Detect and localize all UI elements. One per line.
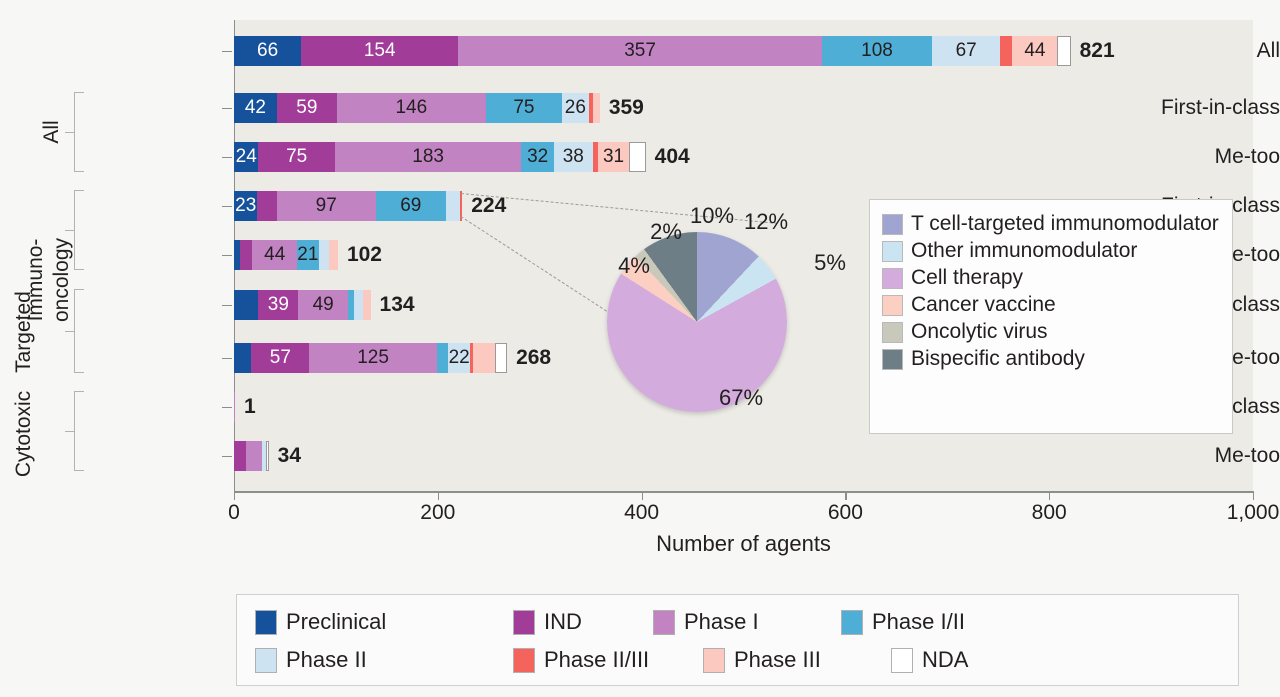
phase-legend: PreclinicalINDPhase IPhase I/II Phase II… <box>236 594 1239 686</box>
phase-legend-item: NDA <box>891 647 968 673</box>
bar-segment-preclinical <box>234 290 258 320</box>
x-tick-label: 400 <box>624 501 659 525</box>
row-label: All <box>1065 36 1280 66</box>
pie-legend-label: Oncolytic virus <box>911 319 1048 345</box>
pie-legend-swatch <box>882 268 903 289</box>
bar-segment-phase-i: 125 <box>309 343 436 373</box>
bar-row: 5712522 <box>234 343 507 373</box>
bar-row <box>234 441 269 471</box>
phase-legend-row-1: PreclinicalINDPhase IPhase I/II <box>255 603 1238 641</box>
bar-segment-ind: 75 <box>258 142 334 172</box>
phase-legend-row-2: Phase IIPhase II/IIIPhase IIINDA <box>255 641 1238 679</box>
bar-total-label: 268 <box>516 343 551 373</box>
row-tick <box>222 108 232 109</box>
pie-percent-label: 67% <box>719 385 763 411</box>
phase-legend-item: Phase I/II <box>841 609 965 635</box>
bar-total-label: 34 <box>278 441 301 471</box>
row-tick <box>222 407 232 408</box>
phase-legend-label: IND <box>544 609 582 635</box>
bar-segment-phase-i-ii: 32 <box>521 142 554 172</box>
group-bracket <box>74 391 75 471</box>
group-label-targeted: Targeted <box>12 291 36 373</box>
pie-legend-label: Bispecific antibody <box>911 346 1085 372</box>
x-tick <box>642 491 643 500</box>
pie-legend-item: Bispecific antibody <box>882 346 1222 372</box>
x-tick <box>438 491 439 500</box>
bar-segment-phase-ii: 67 <box>932 36 1000 66</box>
x-tick <box>1049 491 1050 500</box>
phase-legend-swatch <box>513 648 535 673</box>
bar-segment-preclinical: 42 <box>234 93 277 123</box>
bar-segment-phase-ii: 38 <box>554 142 593 172</box>
pie-legend-item: T cell-targeted immunomodulator <box>882 211 1222 237</box>
pie-legend-label: Other immunomodulator <box>911 238 1137 264</box>
row-label: First-in-class <box>1065 93 1280 123</box>
phase-legend-label: Phase II/III <box>544 647 649 673</box>
bar-total-label: 404 <box>655 142 690 172</box>
bar-segment-phase-i <box>246 441 261 471</box>
bar-segment-phase-i: 146 <box>337 93 486 123</box>
x-tick-label: 600 <box>828 501 863 525</box>
bar-segment-ind <box>240 240 252 270</box>
pie-legend-item: Oncolytic virus <box>882 319 1222 345</box>
phase-legend-item: Phase III <box>703 647 891 673</box>
bar-segment-phase-ii <box>446 191 460 221</box>
bar-row: 4421 <box>234 240 338 270</box>
bar-row <box>234 392 235 422</box>
pie-legend-swatch <box>882 322 903 343</box>
bar-total-label: 102 <box>347 240 382 270</box>
phase-legend-label: Phase I/II <box>872 609 965 635</box>
phase-legend-label: Phase I <box>684 609 759 635</box>
pie-legend-swatch <box>882 295 903 316</box>
bar-row: 42591467526 <box>234 93 600 123</box>
x-tick <box>1253 491 1254 500</box>
x-tick-label: 200 <box>420 501 455 525</box>
pie-legend-label: Cell therapy <box>911 265 1023 291</box>
row-tick <box>222 157 232 158</box>
bar-segment-preclinical: 24 <box>234 142 258 172</box>
bar-segment-phase-i: 49 <box>298 290 348 320</box>
phase-legend-swatch <box>255 648 277 673</box>
bar-segment-phase-ii: 22 <box>448 343 470 373</box>
bar-total-label: 1 <box>244 392 256 422</box>
x-tick <box>234 491 235 500</box>
row-tick <box>222 358 232 359</box>
pie-percent-label: 4% <box>618 253 650 279</box>
x-tick-label: 0 <box>228 501 240 525</box>
bar-segment-preclinical <box>234 343 251 373</box>
bar-segment-phase-ii <box>319 240 329 270</box>
pie-legend-swatch <box>882 214 903 235</box>
bar-segment-ind <box>234 441 246 471</box>
pie-legend-item: Cancer vaccine <box>882 292 1222 318</box>
bar-segment-phase-ii: 26 <box>562 93 588 123</box>
group-bracket-stub <box>65 132 74 133</box>
row-label: Me-too <box>1065 142 1280 172</box>
bar-segment-phase-ii-iii <box>1000 36 1012 66</box>
phase-legend-swatch <box>703 648 725 673</box>
bar-segment-phase-iii <box>363 290 370 320</box>
bar-segment-nda <box>266 441 269 471</box>
bar-segment-phase-iii <box>329 240 338 270</box>
bar-segment-nda <box>495 343 507 373</box>
bar-segment-ind: 57 <box>251 343 309 373</box>
bar-segment-phase-i-ii: 69 <box>376 191 446 221</box>
bar-segment-ind: 154 <box>301 36 458 66</box>
bar-segment-phase-iii: 31 <box>598 142 630 172</box>
row-tick <box>222 206 232 207</box>
bar-segment-phase-i: 183 <box>335 142 521 172</box>
pie-legend-label: T cell-targeted immunomodulator <box>911 211 1219 237</box>
group-bracket <box>74 92 75 172</box>
bar-total-label: 134 <box>380 290 415 320</box>
bar-row: 239769 <box>234 191 462 221</box>
pie-percent-label: 5% <box>814 250 846 276</box>
group-bracket-stub <box>65 431 74 432</box>
phase-legend-label: Preclinical <box>286 609 386 635</box>
row-tick <box>222 51 232 52</box>
pie-legend: T cell-targeted immunomodulatorOther imm… <box>869 199 1233 434</box>
pie-legend-swatch <box>882 241 903 262</box>
phase-legend-swatch <box>891 648 913 673</box>
bar-row: 2475183323831 <box>234 142 646 172</box>
phase-legend-item: Preclinical <box>255 609 513 635</box>
phase-legend-item: IND <box>513 609 653 635</box>
bar-segment-preclinical: 66 <box>234 36 301 66</box>
pie-legend-item: Cell therapy <box>882 265 1222 291</box>
bar-segment-phase-i-ii: 108 <box>822 36 932 66</box>
pie-legend-label: Cancer vaccine <box>911 292 1056 318</box>
row-tick <box>222 305 232 306</box>
bar-segment-phase-iii: 44 <box>1012 36 1057 66</box>
bar-segment-preclinical: 23 <box>234 191 257 221</box>
bar-segment-phase-i: 44 <box>252 240 297 270</box>
x-axis-line <box>234 491 1254 493</box>
pie-percent-label: 12% <box>744 209 788 235</box>
pie-legend-item: Other immunomodulator <box>882 238 1222 264</box>
phase-legend-item: Phase II <box>255 647 513 673</box>
group-bracket <box>74 190 75 270</box>
bar-total-label: 359 <box>609 93 644 123</box>
bar-segment-phase-iii <box>473 343 494 373</box>
bar-segment-ind: 59 <box>277 93 337 123</box>
bar-segment-ind <box>257 191 276 221</box>
x-axis-title: Number of agents <box>234 531 1253 557</box>
group-label-cytotoxic: Cytotoxic <box>12 391 36 477</box>
x-tick <box>845 491 846 500</box>
phase-legend-swatch <box>255 610 277 635</box>
phase-legend-item: Phase II/III <box>513 647 703 673</box>
group-bracket-stub <box>65 230 74 231</box>
bar-row: 3949 <box>234 290 371 320</box>
group-bracket-stub <box>65 331 74 332</box>
bar-row: 661543571086744 <box>234 36 1071 66</box>
phase-legend-swatch <box>841 610 863 635</box>
phase-legend-swatch <box>513 610 535 635</box>
bar-segment-phase-i: 357 <box>458 36 822 66</box>
bar-segment-phase-i <box>234 392 235 422</box>
phase-legend-swatch <box>653 610 675 635</box>
phase-legend-label: NDA <box>922 647 968 673</box>
pie-percent-label: 2% <box>650 219 682 245</box>
pie-legend-swatch <box>882 349 903 370</box>
bar-segment-phase-i-ii: 75 <box>486 93 562 123</box>
bar-segment-ind: 39 <box>258 290 298 320</box>
bar-segment-phase-i: 97 <box>277 191 376 221</box>
pie-percent-label: 10% <box>690 203 734 229</box>
bar-segment-nda <box>629 142 645 172</box>
phase-legend-item: Phase I <box>653 609 841 635</box>
bar-segment-phase-ii <box>354 290 363 320</box>
x-tick-label: 800 <box>1032 501 1067 525</box>
x-tick-label: 1,000 <box>1227 501 1280 525</box>
bar-segment-phase-iii <box>593 93 600 123</box>
group-label-all: All <box>40 120 64 143</box>
row-tick <box>222 456 232 457</box>
row-label: Me-too <box>1065 441 1280 471</box>
phase-legend-label: Phase II <box>286 647 367 673</box>
group-bracket <box>74 289 75 373</box>
row-tick <box>222 255 232 256</box>
group-label-immuno-line2: oncology <box>50 238 74 322</box>
bar-segment-phase-i-ii <box>437 343 448 373</box>
bar-segment-phase-i-ii: 21 <box>297 240 318 270</box>
phase-legend-label: Phase III <box>734 647 821 673</box>
